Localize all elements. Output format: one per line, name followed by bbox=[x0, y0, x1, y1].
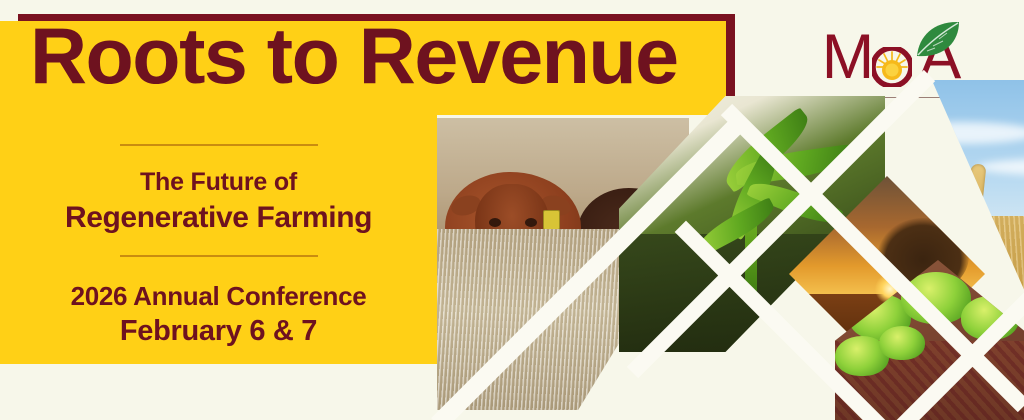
page-title: Roots to Revenue bbox=[30, 11, 730, 101]
leaf-icon bbox=[913, 19, 963, 59]
sun-icon bbox=[872, 47, 912, 87]
conference-dates: February 6 & 7 bbox=[0, 313, 437, 349]
divider-rule-top bbox=[120, 144, 318, 146]
subtitle-headline: Regenerative Farming bbox=[0, 199, 437, 237]
event-copy-stack: The Future of Regenerative Farming 2026 … bbox=[0, 107, 437, 364]
photo-collage bbox=[437, 118, 1024, 410]
conference-name: 2026 Annual Conference bbox=[0, 280, 437, 312]
divider-rule-bottom bbox=[120, 255, 318, 257]
conference-banner: Roots to Revenue The Future of Regenerat… bbox=[0, 0, 1024, 420]
subtitle-lead: The Future of bbox=[0, 167, 437, 198]
moa-letter-m: M bbox=[822, 22, 875, 92]
